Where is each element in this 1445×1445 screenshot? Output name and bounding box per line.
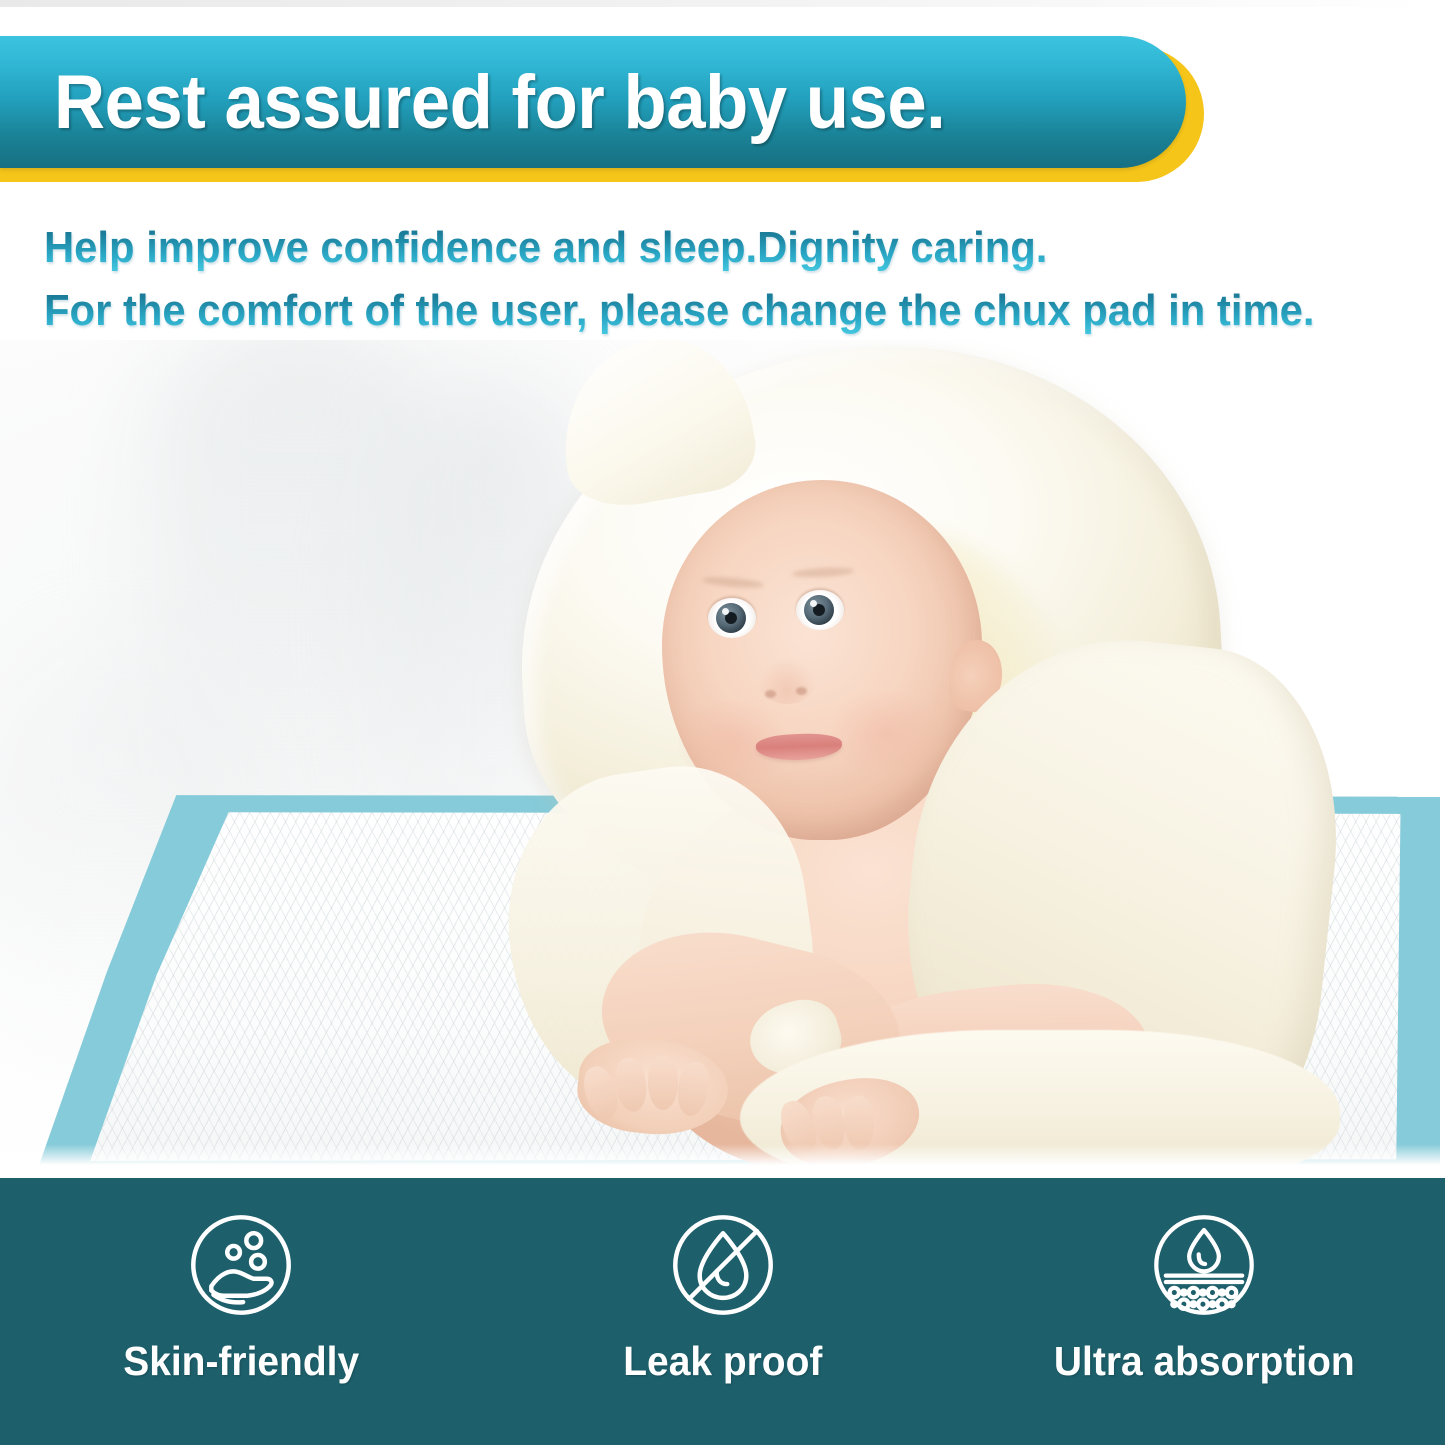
baby-nostril-left bbox=[765, 690, 776, 698]
photo-bottom-fade bbox=[0, 1144, 1445, 1178]
feature-label-skin-friendly: Skin-friendly bbox=[123, 1338, 359, 1385]
skin-friendly-icon bbox=[188, 1212, 294, 1318]
feature-list: Skin-friendly Leak proof bbox=[0, 1178, 1445, 1445]
baby-eye-glint-left bbox=[722, 608, 729, 615]
ultra-absorption-icon bbox=[1151, 1212, 1257, 1318]
product-photo bbox=[0, 340, 1445, 1178]
subtitle-block: Help improve confidence and sleep.Dignit… bbox=[44, 216, 1424, 342]
baby-figure bbox=[310, 340, 1320, 1178]
headline-banner: Rest assured for baby use. bbox=[0, 36, 1208, 182]
feature-item-ultra-absorption: Ultra absorption bbox=[963, 1178, 1445, 1445]
baby-nostril-right bbox=[796, 687, 807, 695]
subtitle-line-2: For the comfort of the user, please chan… bbox=[44, 279, 1355, 342]
feature-label-leak-proof: Leak proof bbox=[623, 1338, 822, 1385]
feature-item-skin-friendly: Skin-friendly bbox=[0, 1178, 482, 1445]
baby-eye-glint-right bbox=[810, 600, 817, 607]
top-right-white-block bbox=[1407, 0, 1445, 40]
feature-label-ultra-absorption: Ultra absorption bbox=[1054, 1338, 1355, 1385]
subtitle-line-1: Help improve confidence and sleep.Dignit… bbox=[44, 216, 1355, 279]
top-divider bbox=[0, 0, 1445, 7]
baby-cheek-right bbox=[830, 690, 940, 776]
feature-item-leak-proof: Leak proof bbox=[482, 1178, 964, 1445]
feature-footer: Skin-friendly Leak proof bbox=[0, 1178, 1445, 1445]
product-infographic-page: Rest assured for baby use. Help improve … bbox=[0, 0, 1445, 1445]
banner-pill: Rest assured for baby use. bbox=[0, 36, 1186, 168]
banner-title: Rest assured for baby use. bbox=[54, 59, 945, 146]
leak-proof-icon bbox=[670, 1212, 776, 1318]
baby-finger bbox=[648, 1056, 678, 1110]
